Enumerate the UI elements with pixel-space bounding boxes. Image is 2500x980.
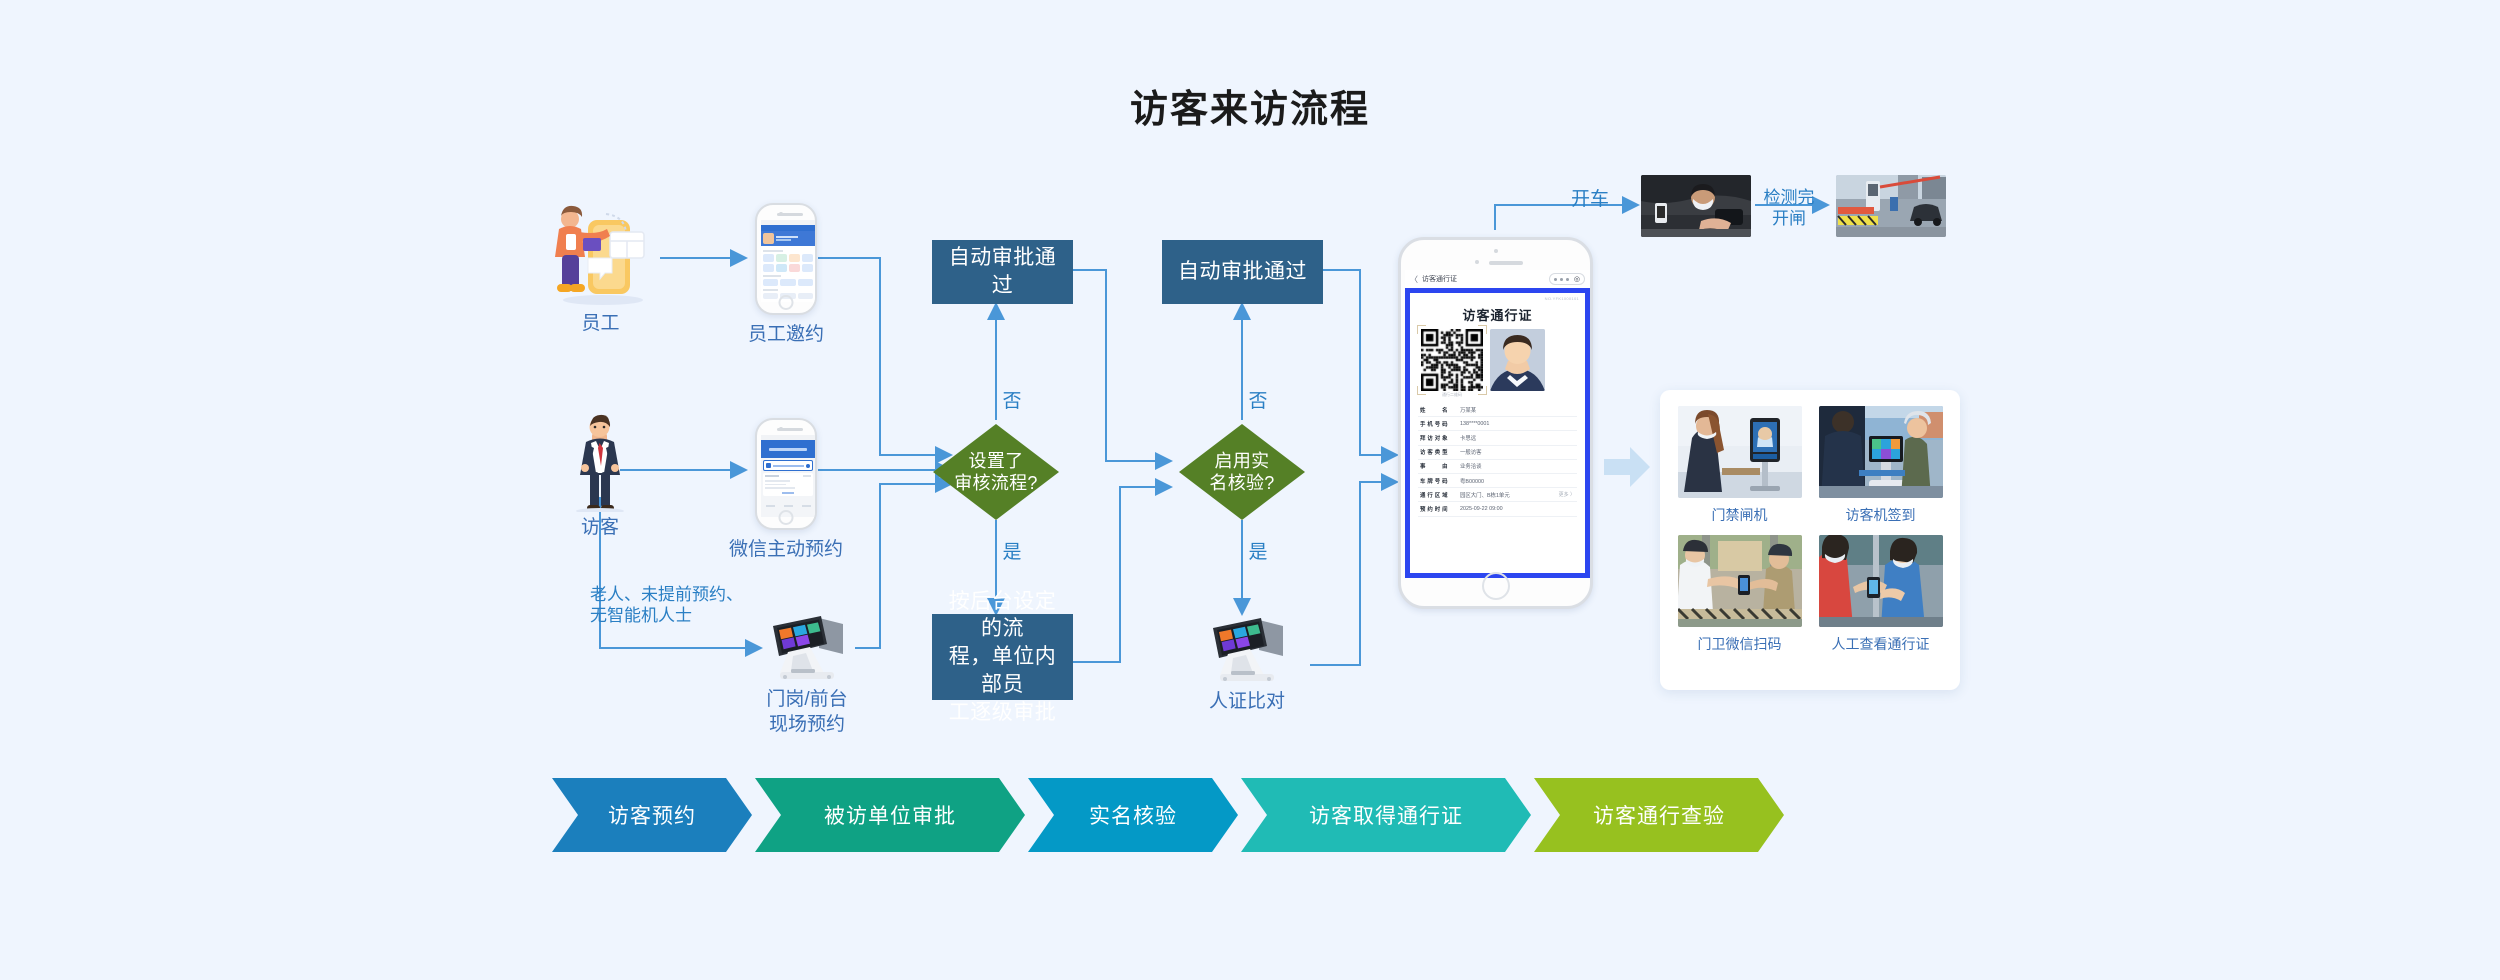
verification-method-caption: 门卫微信扫码 — [1698, 634, 1782, 654]
verification-methods-grid: 门禁闸机 访客机签到 — [1674, 406, 1946, 654]
stage-chevron-label: 被访单位审批 — [824, 800, 956, 830]
pass-detail-key: 事 由 — [1420, 462, 1460, 470]
stage-chevron-2[interactable]: 被访单位审批 — [755, 778, 1025, 852]
decision-review-flow-configured: 设置了 审核流程? — [933, 424, 1059, 520]
visitor-illustration — [568, 412, 632, 512]
caption-wechat-booking: 微信主动预约 — [716, 538, 856, 563]
kiosk-id-verification[interactable] — [1203, 614, 1291, 682]
pass-detail-row: 通行区域园区大门、B栋1单元更多 〉 — [1418, 488, 1577, 502]
decision-1-label: 设置了 审核流程? — [954, 450, 1038, 495]
process-manual-approval-flow: 按后台设定的流 程，单位内部员 工逐级审批 — [932, 614, 1073, 700]
kiosk-gate-front-desk[interactable] — [763, 612, 851, 680]
caption-employee-invite: 员工邀约 — [726, 323, 846, 348]
edge-label-drive: 开车 — [1545, 188, 1635, 212]
photo-car-scan — [1641, 175, 1751, 237]
stage-chevron-label: 实名核验 — [1089, 800, 1177, 830]
pass-detail-key: 拜访对象 — [1420, 434, 1460, 442]
caption-employee: 员工 — [548, 312, 653, 337]
pass-detail-key: 预约时间 — [1420, 505, 1460, 513]
caption-id-verification: 人证比对 — [1197, 690, 1297, 715]
stage-chevron-3[interactable]: 实名核验 — [1028, 778, 1238, 852]
phone-wechat-booking[interactable] — [755, 418, 817, 530]
verification-method-item: 门禁闸机 — [1674, 406, 1805, 525]
chevron-left-icon[interactable]: 〈 — [1410, 274, 1418, 285]
stage-chevron-bar: 访客预约被访单位审批实名核验访客取得通行证访客通行查验 — [552, 778, 1964, 852]
pass-detail-key: 访客类型 — [1420, 448, 1460, 456]
verification-method-item: 访客机签到 — [1815, 406, 1946, 525]
verification-methods-panel: 门禁闸机 访客机签到 — [1660, 390, 1960, 690]
qr-corner-marks — [1417, 325, 1487, 395]
process-auto-approve-1: 自动审批通过 — [932, 240, 1073, 304]
pass-detail-row: 姓 名万某某 — [1418, 403, 1577, 417]
stage-chevron-5[interactable]: 访客通行查验 — [1534, 778, 1784, 852]
pass-detail-value: 卡思远 — [1460, 434, 1575, 442]
stage-chevron-label: 访客取得通行证 — [1309, 800, 1463, 830]
photo-manual-check — [1819, 535, 1943, 627]
pass-detail-value: 万某某 — [1460, 406, 1575, 414]
photo-access-gate — [1678, 406, 1802, 498]
employee-illustration — [548, 196, 653, 306]
photo-barrier-gate — [1836, 175, 1946, 237]
decision-2-label: 启用实 名核验? — [1209, 450, 1274, 495]
phone-employee-invite[interactable] — [755, 203, 817, 315]
pass-detail-row: 车牌号码粤B00000 — [1418, 474, 1577, 488]
pass-detail-row: 手机号码138****0001 — [1418, 417, 1577, 431]
wechat-capsule-menu[interactable]: ◎ — [1549, 273, 1585, 285]
pass-detail-row: 拜访对象卡思远 — [1418, 431, 1577, 445]
edge-label-yes-2: 是 — [1246, 541, 1270, 565]
photo-visitor-kiosk — [1819, 406, 1943, 498]
pass-card: NO.YFK1000101 访客通行证 通 — [1410, 293, 1585, 573]
verification-method-caption: 访客机签到 — [1846, 505, 1916, 525]
pass-detail-value: 138****0001 — [1460, 421, 1575, 427]
verification-method-item: 人工查看通行证 — [1815, 535, 1946, 654]
verification-method-item: 门卫微信扫码 — [1674, 535, 1805, 654]
pass-detail-value: 一般访客 — [1460, 448, 1575, 456]
pass-nav-title: 访客通行证 — [1422, 274, 1457, 284]
caption-visitor: 访客 — [568, 516, 632, 541]
pass-detail-value: 园区大门、B栋1单元 — [1460, 491, 1559, 499]
edge-label-walkin-reason: 老人、未提前预约、 无智能机人士 — [590, 584, 770, 627]
flow-arrow-to-verification-panel — [1604, 447, 1650, 487]
photo-guard-wechat-scan — [1678, 535, 1802, 627]
pass-frame: NO.YFK1000101 访客通行证 通 — [1405, 288, 1590, 578]
pass-serial-number: NO.YFK1000101 — [1545, 296, 1579, 301]
pass-detail-key: 姓 名 — [1420, 406, 1460, 414]
stage-chevron-label: 访客预约 — [608, 800, 696, 830]
edge-label-no-2: 否 — [1246, 390, 1270, 414]
pass-detail-key: 车牌号码 — [1420, 477, 1460, 485]
pass-detail-value: 业务洽谈 — [1460, 462, 1575, 470]
process-auto-approve-2: 自动审批通过 — [1162, 240, 1323, 304]
pass-detail-row: 预约时间2025-09-22 09:00 — [1418, 502, 1577, 516]
pass-detail-row: 事 由业务洽谈 — [1418, 460, 1577, 474]
pass-detail-more-link[interactable]: 更多 〉 — [1559, 491, 1575, 498]
stage-chevron-4[interactable]: 访客取得通行证 — [1241, 778, 1531, 852]
verification-method-caption: 门禁闸机 — [1712, 505, 1768, 525]
pass-detail-key: 通行区域 — [1420, 491, 1460, 499]
qr-code[interactable] — [1421, 329, 1483, 391]
stage-chevron-label: 访客通行查验 — [1593, 800, 1725, 830]
stage-chevron-1[interactable]: 访客预约 — [552, 778, 752, 852]
pass-detail-rows: 姓 名万某某手机号码138****0001拜访对象卡思远访客类型一般访客事 由业… — [1418, 403, 1577, 517]
edge-label-gate-open: 检测完 开闸 — [1752, 187, 1826, 230]
edge-label-yes-1: 是 — [1000, 541, 1024, 565]
edge-label-no-1: 否 — [1000, 390, 1024, 414]
decision-realname-verification: 启用实 名核验? — [1179, 424, 1305, 520]
phone-visitor-pass[interactable]: 〈 访客通行证 ◎ NO.YFK1000101 访客通行证 — [1398, 237, 1593, 609]
pass-detail-value: 2025-09-22 09:00 — [1460, 506, 1575, 512]
pass-navbar: 〈 访客通行证 ◎ — [1405, 270, 1590, 288]
verification-method-caption: 人工查看通行证 — [1832, 634, 1930, 654]
pass-detail-key: 手机号码 — [1420, 420, 1460, 428]
pass-card-title: 访客通行证 — [1418, 305, 1577, 324]
caption-gate-front-desk: 门岗/前台 现场预约 — [737, 688, 877, 737]
pass-detail-value: 粤B00000 — [1460, 477, 1575, 485]
visitor-photo — [1490, 329, 1545, 391]
pass-detail-row: 访客类型一般访客 — [1418, 446, 1577, 460]
